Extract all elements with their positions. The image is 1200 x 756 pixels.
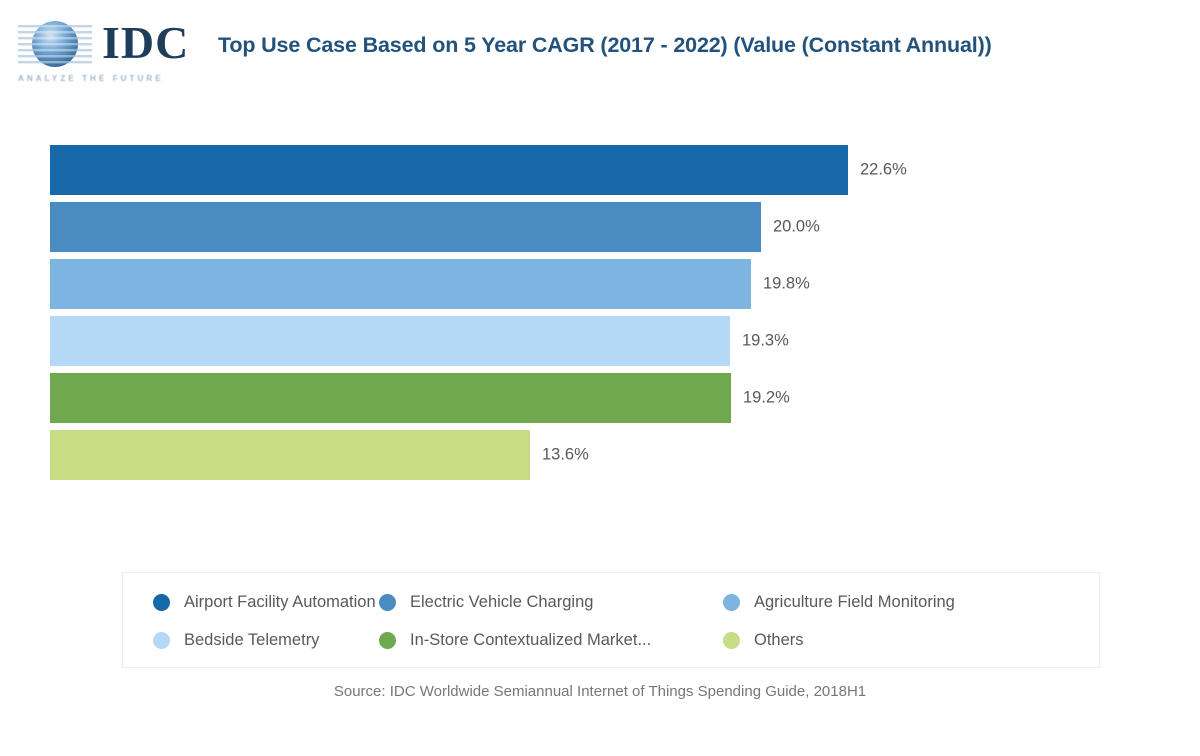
idc-globe-logo-icon bbox=[16, 18, 94, 70]
bar-rect[interactable] bbox=[50, 259, 751, 309]
bar-value-label: 22.6% bbox=[860, 161, 907, 180]
legend-dot-in-store-contextualized-marketing bbox=[379, 632, 396, 649]
legend-dot-others bbox=[723, 632, 740, 649]
idc-wordmark: IDC bbox=[102, 18, 189, 68]
bar-value-label: 19.2% bbox=[743, 389, 790, 408]
chart-header: IDC ANALYZE THE FUTURE Top Use Case Base… bbox=[0, 0, 1200, 110]
legend-item[interactable]: Agriculture Field Monitoring bbox=[723, 583, 955, 621]
bar-rect[interactable] bbox=[50, 145, 848, 195]
bar-row[interactable]: 20.0% bbox=[50, 202, 761, 252]
idc-tagline: ANALYZE THE FUTURE bbox=[18, 74, 204, 83]
legend-row: Bedside TelemetryIn-Store Contextualized… bbox=[123, 621, 1099, 659]
legend-item-label: Airport Facility Automation bbox=[184, 593, 376, 612]
bar-value-label: 19.8% bbox=[763, 275, 810, 294]
bar-value-label: 19.3% bbox=[742, 332, 789, 351]
bar-rect[interactable] bbox=[50, 202, 761, 252]
bar-value-label: 20.0% bbox=[773, 218, 820, 237]
source-note: Source: IDC Worldwide Semiannual Interne… bbox=[0, 683, 1200, 700]
bar-row[interactable]: 19.2% bbox=[50, 373, 731, 423]
idc-logo: IDC ANALYZE THE FUTURE bbox=[14, 16, 204, 88]
legend-row: Airport Facility AutomationElectric Vehi… bbox=[123, 583, 1099, 621]
bar-rect[interactable] bbox=[50, 316, 730, 366]
legend-item[interactable]: Others bbox=[723, 621, 804, 659]
bar-chart-plot: 22.6%20.0%19.8%19.3%19.2%13.6% bbox=[0, 140, 1200, 510]
page-title: Top Use Case Based on 5 Year CAGR (2017 … bbox=[218, 33, 1178, 58]
bar-rect[interactable] bbox=[50, 373, 731, 423]
bar-row[interactable]: 19.8% bbox=[50, 259, 751, 309]
bar-rect[interactable] bbox=[50, 430, 530, 480]
legend-dot-electric-vehicle-charging bbox=[379, 594, 396, 611]
legend-item[interactable]: Airport Facility Automation bbox=[153, 583, 376, 621]
legend-item-label: Others bbox=[754, 631, 804, 650]
legend-item[interactable]: Electric Vehicle Charging bbox=[379, 583, 593, 621]
chart-legend: Airport Facility AutomationElectric Vehi… bbox=[122, 572, 1100, 668]
legend-dot-airport-facility-automation bbox=[153, 594, 170, 611]
legend-item-label: In-Store Contextualized Market... bbox=[410, 631, 651, 650]
bar-row[interactable]: 22.6% bbox=[50, 145, 848, 195]
legend-item-label: Bedside Telemetry bbox=[184, 631, 319, 650]
bar-row[interactable]: 19.3% bbox=[50, 316, 730, 366]
bar-row[interactable]: 13.6% bbox=[50, 430, 530, 480]
legend-dot-agriculture-field-monitoring bbox=[723, 594, 740, 611]
legend-dot-bedside-telemetry bbox=[153, 632, 170, 649]
legend-item[interactable]: In-Store Contextualized Market... bbox=[379, 621, 651, 659]
legend-item[interactable]: Bedside Telemetry bbox=[153, 621, 319, 659]
bar-value-label: 13.6% bbox=[542, 446, 589, 465]
legend-item-label: Electric Vehicle Charging bbox=[410, 593, 593, 612]
legend-item-label: Agriculture Field Monitoring bbox=[754, 593, 955, 612]
